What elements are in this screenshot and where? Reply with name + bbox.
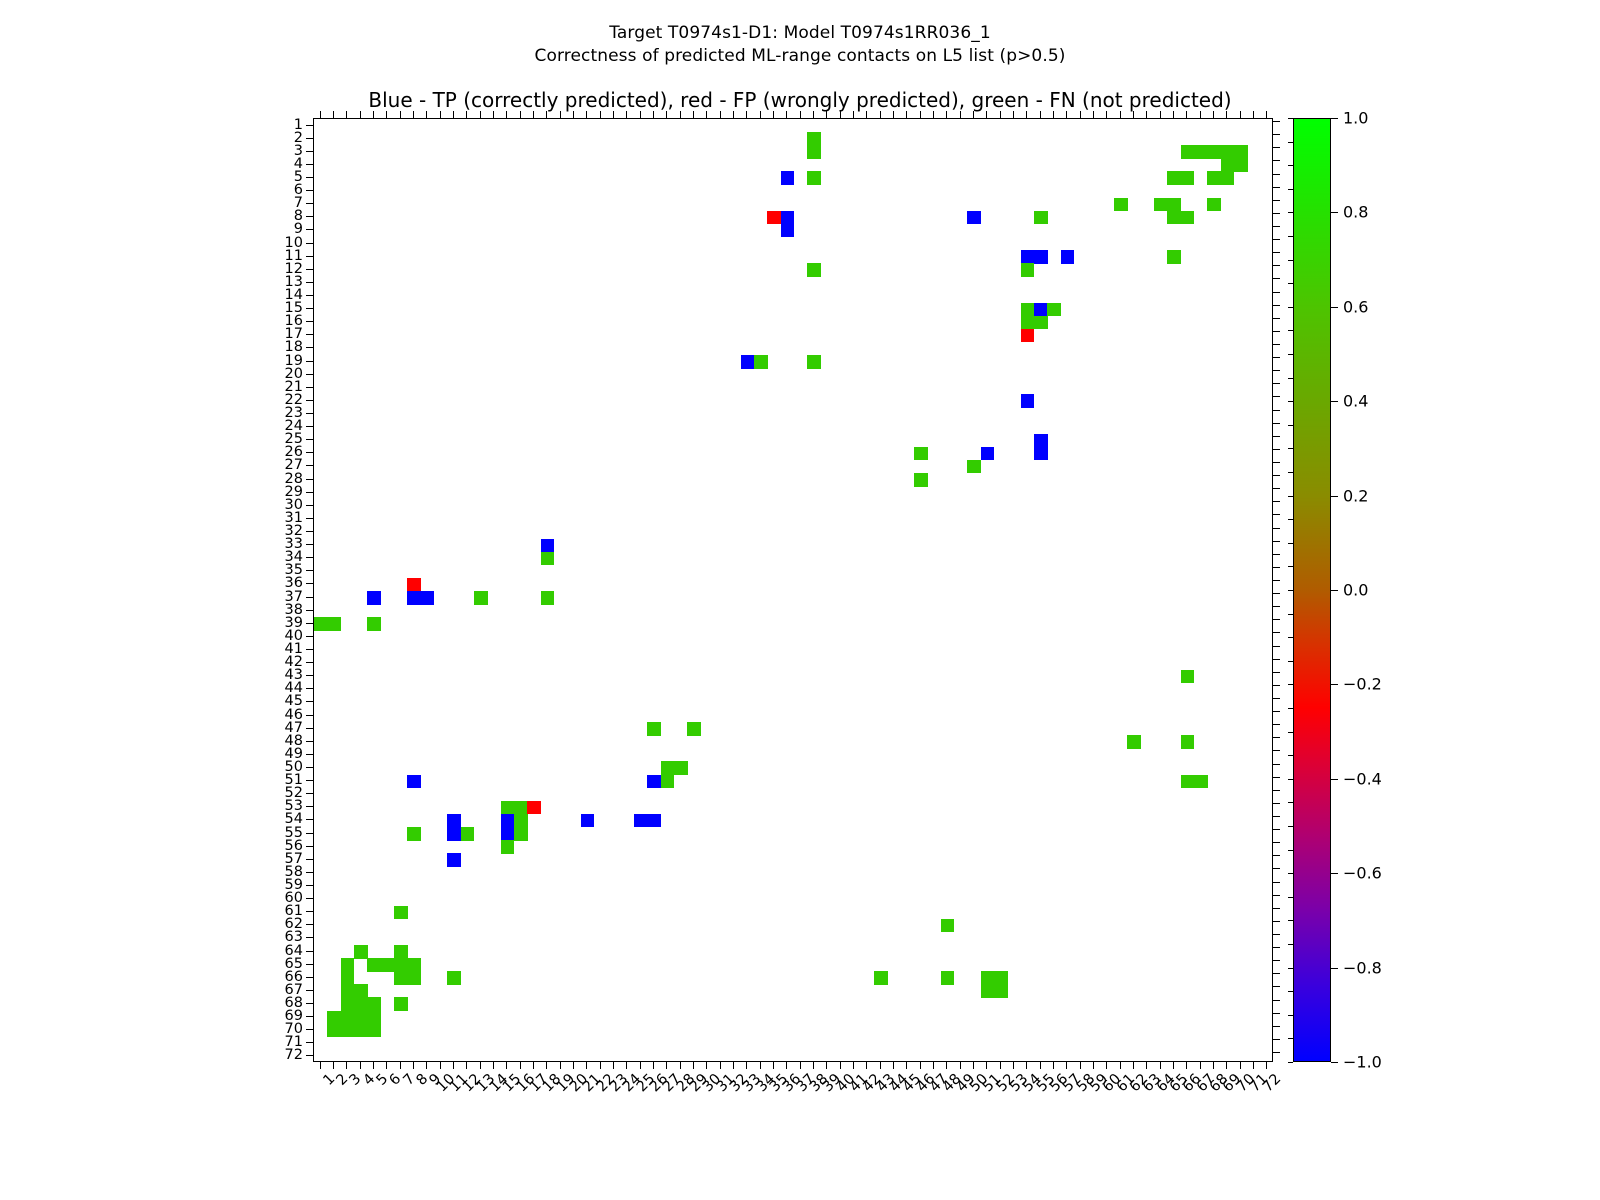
y-tick-right	[1273, 488, 1280, 489]
y-tick-right	[1273, 239, 1280, 240]
y-tick	[306, 413, 313, 414]
x-tick	[1066, 1062, 1067, 1069]
y-tick-right	[1273, 698, 1280, 699]
contact-cell-tp	[781, 171, 795, 185]
x-tick-top	[373, 111, 374, 118]
contact-cell-fn	[461, 827, 475, 841]
y-tick-right	[1273, 1026, 1280, 1027]
contact-cell-fn	[407, 827, 421, 841]
contact-cell-fn	[1167, 250, 1181, 264]
contact-cell-fn	[661, 775, 675, 789]
contact-cell-tp	[407, 591, 421, 605]
contact-cell-fn	[501, 801, 515, 815]
contact-cell-fn	[394, 958, 408, 972]
x-tick	[333, 1062, 334, 1069]
x-tick	[600, 1062, 601, 1069]
colorbar-minor-tick	[1288, 1038, 1293, 1039]
colorbar-minor-tick	[1288, 236, 1293, 237]
x-tick	[493, 1062, 494, 1069]
contact-cell-fn	[1221, 171, 1235, 185]
contact-cell-fn	[474, 591, 488, 605]
contact-cell-fn	[1181, 735, 1195, 749]
y-tick-right	[1273, 134, 1280, 135]
contact-cell-tp	[501, 814, 515, 828]
y-tick	[306, 531, 313, 532]
colorbar-tick-label: −0.6	[1343, 864, 1382, 883]
y-tick-right	[1273, 187, 1280, 188]
x-tick-top	[1053, 111, 1054, 118]
x-tick	[1186, 1062, 1187, 1069]
y-tick-right	[1273, 711, 1280, 712]
x-tick-top	[786, 111, 787, 118]
x-tick-top	[1106, 111, 1107, 118]
contact-cell-fn	[327, 617, 341, 631]
x-tick-top	[560, 111, 561, 118]
x-tick	[480, 1062, 481, 1069]
y-tick-right	[1273, 396, 1280, 397]
contact-cell-fn	[1207, 198, 1221, 212]
contact-cell-fn	[994, 971, 1008, 985]
x-tick	[773, 1062, 774, 1069]
x-tick-top	[1240, 111, 1241, 118]
contact-cell-fn	[1207, 171, 1221, 185]
contact-cell-fn	[674, 761, 688, 775]
colorbar-minor-tick	[1288, 826, 1293, 827]
y-tick	[306, 439, 313, 440]
contact-cell-fn	[367, 997, 381, 1011]
y-tick	[306, 452, 313, 453]
x-tick	[1040, 1062, 1041, 1069]
y-tick	[306, 138, 313, 139]
contact-cell-tp	[421, 591, 435, 605]
colorbar-minor-tick	[1288, 543, 1293, 544]
x-tick	[813, 1062, 814, 1069]
x-tick	[1120, 1062, 1121, 1069]
colorbar-minor-tick	[1288, 448, 1293, 449]
y-tick-right	[1273, 501, 1280, 502]
contact-cell-tp	[781, 211, 795, 225]
x-tick	[373, 1062, 374, 1069]
x-tick	[1226, 1062, 1227, 1069]
x-tick	[440, 1062, 441, 1069]
contact-cell-fn	[914, 473, 928, 487]
y-tick	[306, 793, 313, 794]
colorbar-minor-tick	[1288, 590, 1293, 591]
y-tick-right	[1273, 449, 1280, 450]
y-tick-right	[1273, 803, 1280, 804]
colorbar-minor-tick	[1288, 142, 1293, 143]
contact-cell-tp	[447, 827, 461, 841]
y-tick-right	[1273, 816, 1280, 817]
y-tick	[306, 937, 313, 938]
contact-cell-fn	[381, 958, 395, 972]
x-tick-top	[960, 111, 961, 118]
x-tick	[866, 1062, 867, 1069]
y-tick	[306, 505, 313, 506]
x-tick	[346, 1062, 347, 1069]
y-tick-right	[1273, 947, 1280, 948]
colorbar-minor-tick	[1288, 118, 1293, 119]
x-tick-top	[426, 111, 427, 118]
y-tick	[306, 924, 313, 925]
y-tick-right	[1273, 882, 1280, 883]
contact-cell-fn	[807, 145, 821, 159]
x-tick-top	[760, 111, 761, 118]
colorbar-tick	[1331, 118, 1338, 119]
colorbar-minor-tick	[1288, 732, 1293, 733]
contact-cell-tp	[981, 447, 995, 461]
x-tick	[840, 1062, 841, 1069]
x-tick	[720, 1062, 721, 1069]
x-tick-top	[453, 111, 454, 118]
contact-cell-fn	[1021, 263, 1035, 277]
x-tick-top	[1093, 111, 1094, 118]
chart-title-block: Target T0974s1-D1: Model T0974s1RR036_1 …	[0, 22, 1600, 68]
y-tick	[306, 308, 313, 309]
contact-cell-fn	[541, 591, 555, 605]
y-tick	[306, 334, 313, 335]
colorbar-tick	[1331, 307, 1338, 308]
colorbar-tick	[1331, 496, 1338, 497]
y-tick-right	[1273, 737, 1280, 738]
x-tick	[986, 1062, 987, 1069]
x-tick-top	[733, 111, 734, 118]
contact-cell-fn	[1114, 198, 1128, 212]
colorbar-minor-tick	[1288, 330, 1293, 331]
x-tick-top	[400, 111, 401, 118]
y-tick	[306, 583, 313, 584]
contact-cell-fn	[407, 971, 421, 985]
y-tick-right	[1273, 410, 1280, 411]
contact-cell-fn	[1181, 775, 1195, 789]
y-tick	[306, 387, 313, 388]
colorbar-minor-tick	[1288, 566, 1293, 567]
y-tick	[306, 964, 313, 965]
y-tick	[306, 819, 313, 820]
contact-cell-fn	[447, 971, 461, 985]
contact-cell-fn	[981, 971, 995, 985]
contact-cell-fn	[354, 984, 368, 998]
colorbar-minor-tick	[1288, 1062, 1293, 1063]
contact-cell-tp	[447, 853, 461, 867]
x-tick	[1200, 1062, 1201, 1069]
y-tick-right	[1273, 265, 1280, 266]
colorbar-minor-tick	[1288, 519, 1293, 520]
colorbar-tick-label: 0.6	[1343, 297, 1368, 316]
colorbar-minor-tick	[1288, 755, 1293, 756]
x-tick	[1053, 1062, 1054, 1069]
y-tick-right	[1273, 213, 1280, 214]
x-tick	[386, 1062, 387, 1069]
colorbar-minor-tick	[1288, 802, 1293, 803]
contact-cell-fn	[981, 984, 995, 998]
x-tick-top	[853, 111, 854, 118]
y-tick	[306, 400, 313, 401]
contact-cell-tp	[781, 224, 795, 238]
contact-cell-tp	[1034, 303, 1048, 317]
x-tick-top	[1040, 111, 1041, 118]
contact-map-plot: 1234567891011121314151617181920212223242…	[313, 118, 1273, 1062]
y-tick-right	[1273, 934, 1280, 935]
x-tick	[426, 1062, 427, 1069]
y-tick	[306, 780, 313, 781]
contact-cell-fn	[354, 997, 368, 1011]
y-tick	[306, 269, 313, 270]
contact-cell-fn	[341, 1024, 355, 1038]
contact-cell-fn	[341, 984, 355, 998]
colorbar-tick	[1331, 590, 1338, 591]
colorbar-minor-tick	[1288, 425, 1293, 426]
contact-cell-fn	[687, 722, 701, 736]
contact-cell-fn	[514, 801, 528, 815]
y-tick-right	[1273, 1052, 1280, 1053]
y-tick	[306, 243, 313, 244]
contact-cell-fn	[341, 1011, 355, 1025]
y-tick	[306, 1042, 313, 1043]
y-tick-right	[1273, 423, 1280, 424]
x-tick	[466, 1062, 467, 1069]
y-tick-right	[1273, 606, 1280, 607]
contact-cell-fn	[541, 552, 555, 566]
x-tick-top	[1000, 111, 1001, 118]
x-tick-top	[933, 111, 934, 118]
contact-cell-fn	[367, 1011, 381, 1025]
contact-cell-tp	[541, 539, 555, 553]
x-tick-top	[720, 111, 721, 118]
y-tick	[306, 282, 313, 283]
x-tick-top	[613, 111, 614, 118]
y-tick-right	[1273, 619, 1280, 620]
x-tick-top	[1200, 111, 1201, 118]
colorbar-minor-tick	[1288, 189, 1293, 190]
colorbar-tick	[1331, 684, 1338, 685]
x-tick	[680, 1062, 681, 1069]
x-tick	[520, 1062, 521, 1069]
contact-cell-tp	[501, 827, 515, 841]
y-tick	[306, 256, 313, 257]
x-tick	[1173, 1062, 1174, 1069]
contact-cell-fp	[407, 578, 421, 592]
y-tick-right	[1273, 632, 1280, 633]
y-tick	[306, 321, 313, 322]
y-tick-right	[1273, 777, 1280, 778]
contact-cell-fn	[1034, 316, 1048, 330]
contact-cell-fn	[941, 971, 955, 985]
y-tick	[306, 885, 313, 886]
colorbar-tick-label: 0.8	[1343, 203, 1368, 222]
contact-cell-fp	[767, 211, 781, 225]
x-tick-top	[626, 111, 627, 118]
x-tick-top	[1080, 111, 1081, 118]
contact-cell-fn	[1234, 158, 1248, 172]
x-tick	[800, 1062, 801, 1069]
colorbar-minor-tick	[1288, 920, 1293, 921]
x-tick-top	[386, 111, 387, 118]
x-tick-top	[1213, 111, 1214, 118]
colorbar-gradient	[1293, 118, 1331, 1062]
y-tick	[306, 518, 313, 519]
x-tick-top	[360, 111, 361, 118]
contact-cell-tp	[967, 211, 981, 225]
colorbar-tick-label: 0.4	[1343, 392, 1368, 411]
y-tick-right	[1273, 672, 1280, 673]
x-tick	[533, 1062, 534, 1069]
x-tick-top	[840, 111, 841, 118]
y-tick-right	[1273, 986, 1280, 987]
x-tick	[920, 1062, 921, 1069]
colorbar-minor-tick	[1288, 307, 1293, 308]
y-tick	[306, 216, 313, 217]
x-tick	[1093, 1062, 1094, 1069]
colorbar-minor-tick	[1288, 637, 1293, 638]
contact-cell-fn	[1154, 198, 1168, 212]
contact-cell-fp	[1021, 329, 1035, 343]
x-tick-top	[480, 111, 481, 118]
contact-cell-tp	[1061, 250, 1075, 264]
x-tick	[973, 1062, 974, 1069]
y-tick-right	[1273, 160, 1280, 161]
contact-cell-fp	[527, 801, 541, 815]
y-tick	[306, 898, 313, 899]
x-tick-top	[1066, 111, 1067, 118]
x-tick-top	[413, 111, 414, 118]
contact-cell-fn	[1194, 145, 1208, 159]
x-tick-top	[986, 111, 987, 118]
contact-cell-tp	[407, 775, 421, 789]
y-tick-right	[1273, 252, 1280, 253]
x-tick-top	[893, 111, 894, 118]
y-tick	[306, 361, 313, 362]
y-tick	[306, 492, 313, 493]
contact-cell-fn	[1167, 198, 1181, 212]
x-tick	[400, 1062, 401, 1069]
x-tick-top	[1226, 111, 1227, 118]
y-tick-right	[1273, 278, 1280, 279]
x-tick-top	[813, 111, 814, 118]
y-tick	[306, 675, 313, 676]
x-tick-top	[333, 111, 334, 118]
contact-cell-fn	[1234, 145, 1248, 159]
x-tick	[573, 1062, 574, 1069]
contact-cell-fn	[394, 971, 408, 985]
y-tick	[306, 741, 313, 742]
y-tick-right	[1273, 790, 1280, 791]
contact-cell-fn	[327, 1011, 341, 1025]
colorbar-minor-tick	[1288, 1015, 1293, 1016]
contact-cell-fn	[367, 1024, 381, 1038]
x-tick	[1240, 1062, 1241, 1069]
colorbar-minor-tick	[1288, 779, 1293, 780]
contact-cell-tp	[647, 814, 661, 828]
x-tick	[586, 1062, 587, 1069]
colorbar-minor-tick	[1288, 708, 1293, 709]
x-tick-top	[746, 111, 747, 118]
y-tick-right	[1273, 750, 1280, 751]
contact-cell-tp	[1021, 394, 1035, 408]
y-tick	[306, 164, 313, 165]
y-tick-right	[1273, 344, 1280, 345]
contact-cell-fn	[807, 171, 821, 185]
colorbar-tick-label: 0.2	[1343, 486, 1368, 505]
contact-cell-fn	[394, 997, 408, 1011]
x-tick	[1253, 1062, 1254, 1069]
colorbar-minor-tick	[1288, 165, 1293, 166]
contact-cell-fn	[1021, 316, 1035, 330]
x-tick	[826, 1062, 827, 1069]
y-tick-right	[1273, 580, 1280, 581]
y-tick-right	[1273, 921, 1280, 922]
colorbar-tick-label: −0.4	[1343, 769, 1382, 788]
x-tick	[1160, 1062, 1161, 1069]
contact-cell-fn	[354, 945, 368, 959]
x-tick	[613, 1062, 614, 1069]
x-tick	[893, 1062, 894, 1069]
y-tick	[306, 465, 313, 466]
x-tick-top	[600, 111, 601, 118]
y-tick-right	[1273, 292, 1280, 293]
contact-cell-fn	[1034, 211, 1048, 225]
contact-cell-fn	[807, 132, 821, 146]
colorbar-tick	[1331, 779, 1338, 780]
x-tick-top	[506, 111, 507, 118]
x-tick	[1266, 1062, 1267, 1069]
contact-cell-fn	[1221, 145, 1235, 159]
y-tick	[306, 977, 313, 978]
y-tick-right	[1273, 554, 1280, 555]
x-tick-top	[1253, 111, 1254, 118]
y-tick	[306, 190, 313, 191]
y-tick-right	[1273, 868, 1280, 869]
x-tick-top	[520, 111, 521, 118]
contact-cell-fn	[367, 617, 381, 631]
x-tick	[506, 1062, 507, 1069]
x-tick-top	[440, 111, 441, 118]
contact-cell-fn	[501, 840, 515, 854]
x-tick-top	[466, 111, 467, 118]
contact-cell-fn	[941, 919, 955, 933]
x-tick-top	[1120, 111, 1121, 118]
contact-cell-fn	[1167, 171, 1181, 185]
x-tick-top	[320, 111, 321, 118]
y-axis-tick-label: 72	[263, 1047, 303, 1063]
y-tick	[306, 806, 313, 807]
x-tick	[786, 1062, 787, 1069]
colorbar-minor-tick	[1288, 684, 1293, 685]
y-tick-right	[1273, 593, 1280, 594]
y-tick-right	[1273, 357, 1280, 358]
x-tick-top	[493, 111, 494, 118]
y-tick-right	[1273, 1039, 1280, 1040]
y-tick	[306, 479, 313, 480]
x-tick-top	[1186, 111, 1187, 118]
x-tick	[853, 1062, 854, 1069]
x-tick-top	[533, 111, 534, 118]
x-tick	[693, 1062, 694, 1069]
colorbar-minor-tick	[1288, 260, 1293, 261]
title-line-2: Correctness of predicted ML-range contac…	[0, 45, 1600, 68]
contact-cell-tp	[1021, 250, 1035, 264]
y-tick-right	[1273, 200, 1280, 201]
colorbar-tick-label: −0.2	[1343, 675, 1382, 694]
y-tick	[306, 203, 313, 204]
y-tick	[306, 662, 313, 663]
contact-cell-fn	[514, 814, 528, 828]
y-tick	[306, 151, 313, 152]
y-tick	[306, 295, 313, 296]
y-tick-right	[1273, 829, 1280, 830]
x-tick-top	[666, 111, 667, 118]
y-tick	[306, 951, 313, 952]
